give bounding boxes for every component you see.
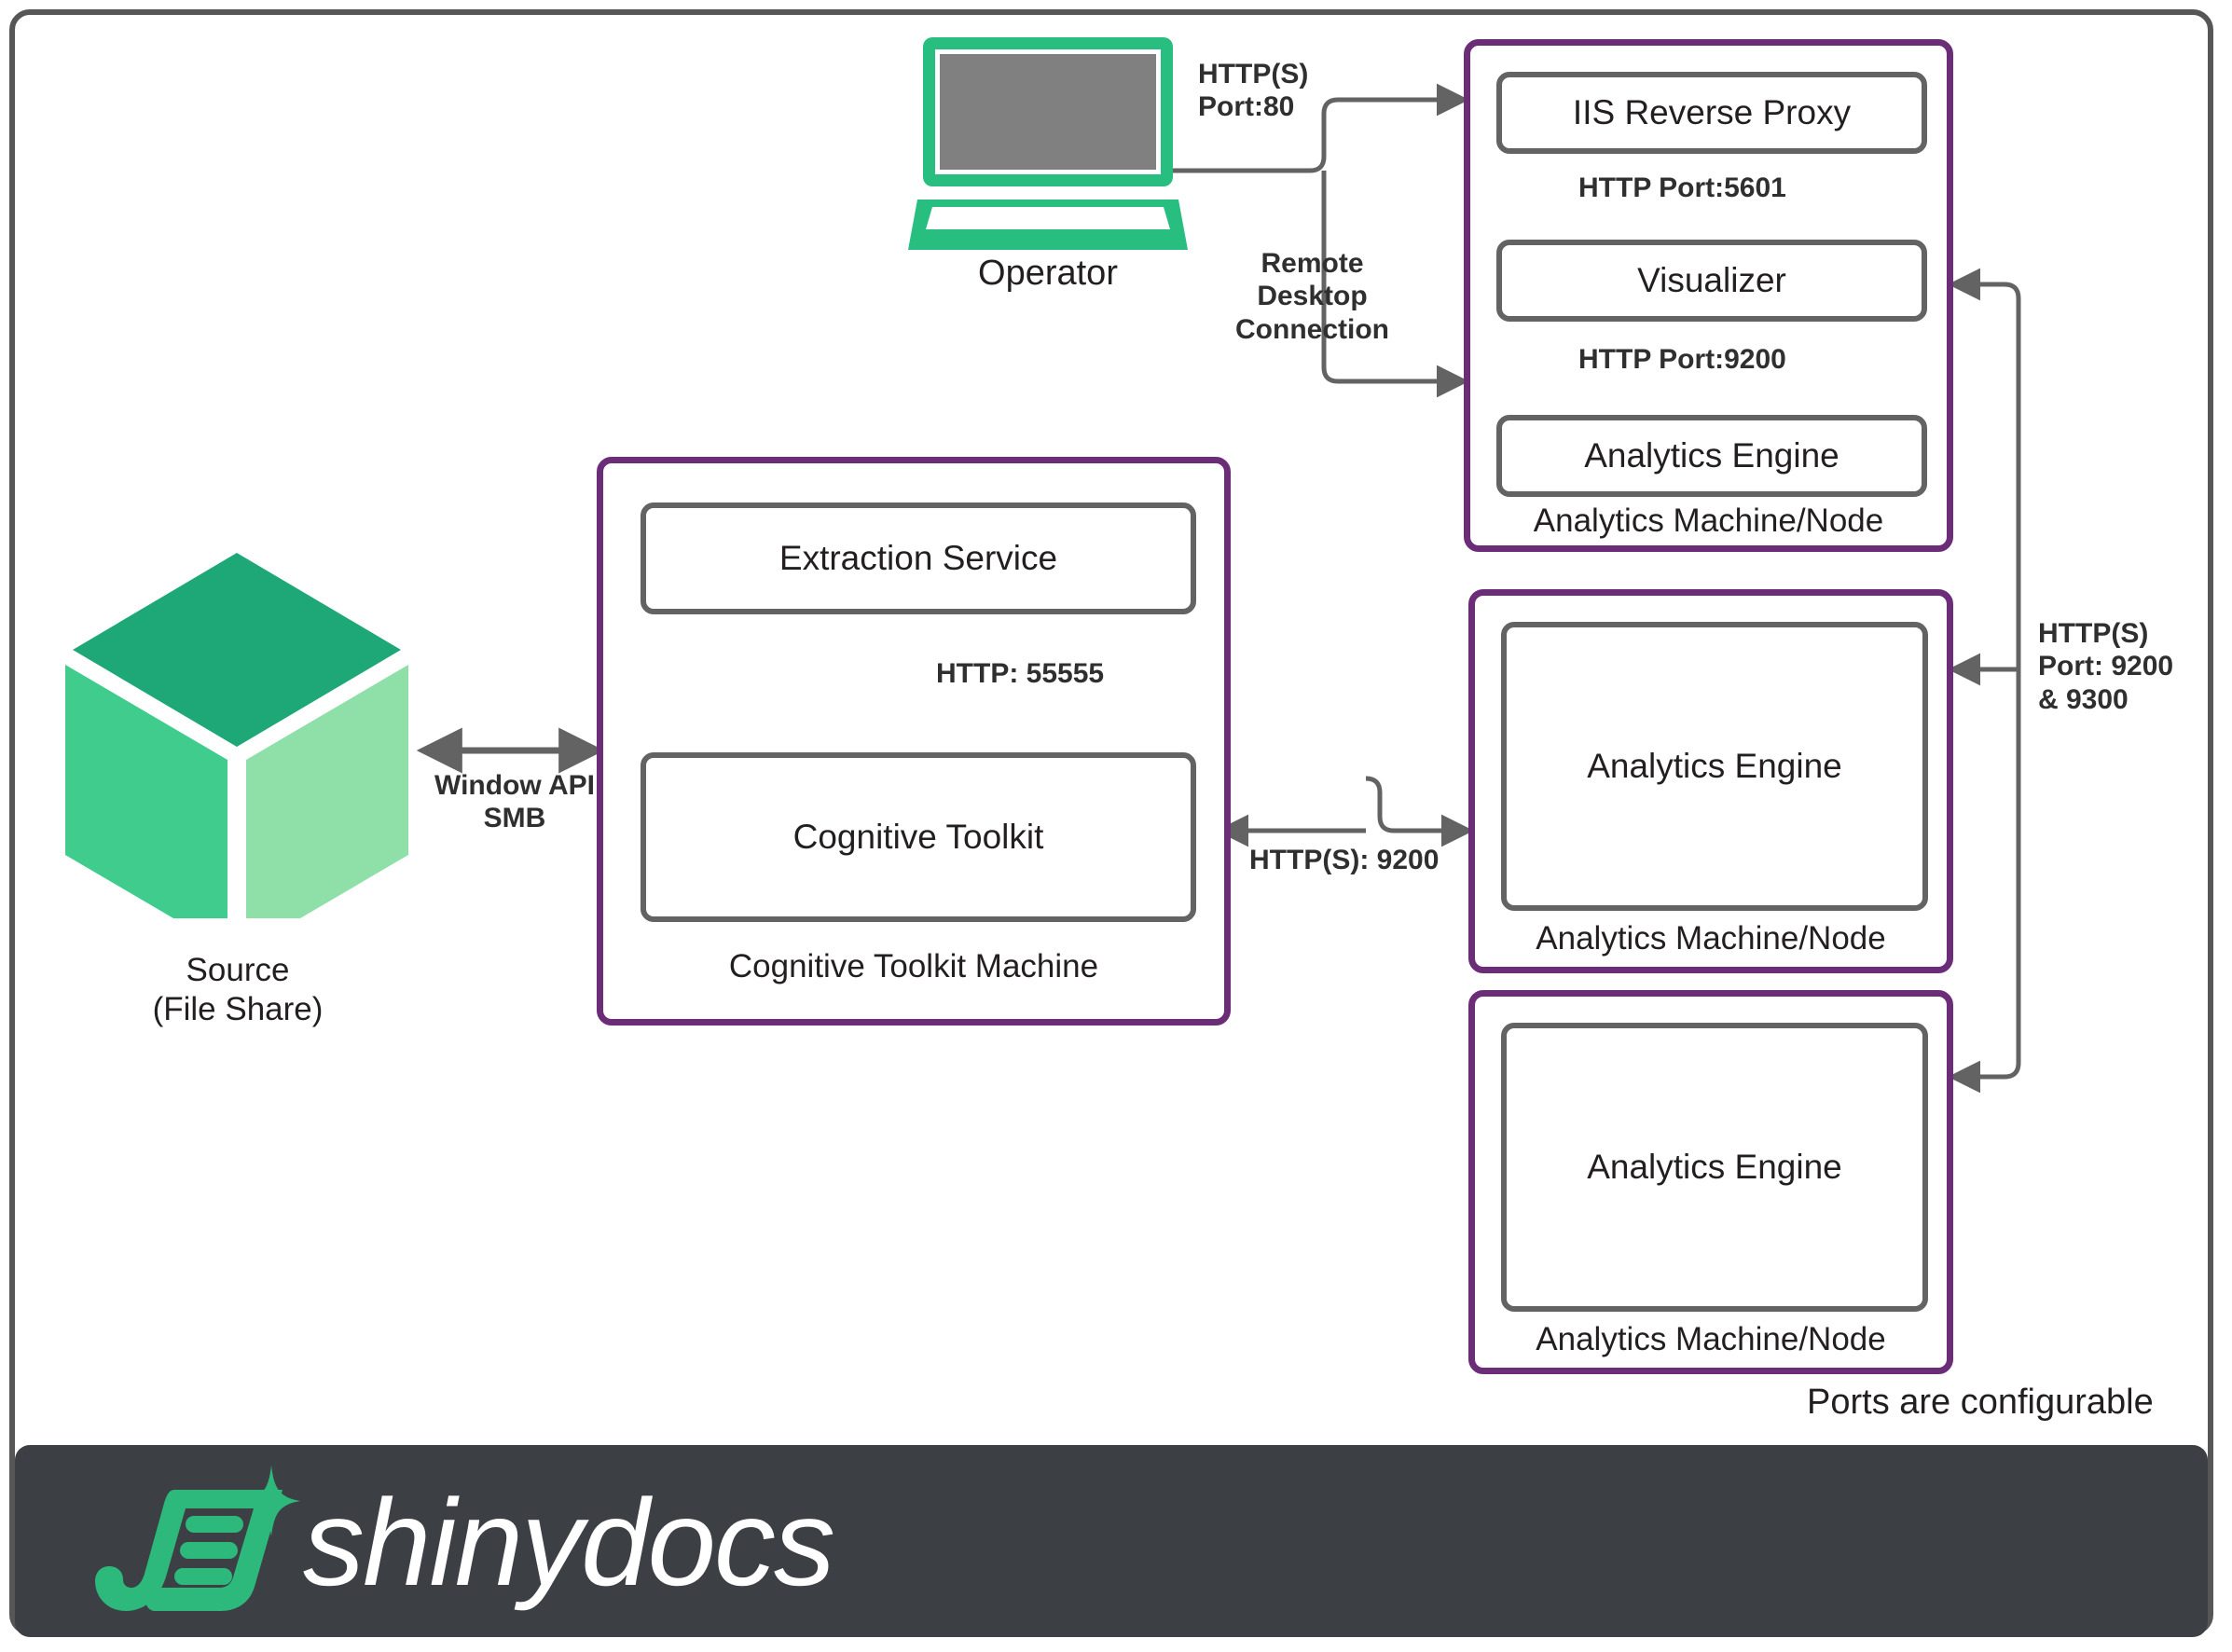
- operator-label: Operator: [861, 254, 1234, 294]
- laptop-screen: [935, 49, 1161, 174]
- wire-bus-to-node1: [1953, 284, 2018, 298]
- service-iis-reverse-proxy[interactable]: IIS Reverse Proxy: [1496, 72, 1927, 154]
- service-analytics-engine[interactable]: Analytics Engine: [1501, 1023, 1928, 1312]
- wire-bus-to-node3: [1953, 1063, 2018, 1077]
- remote-desktop-label: Remote Desktop Connection: [1235, 247, 1389, 346]
- analytics-machine-node-3[interactable]: Analytics Engine Analytics Machine/Node: [1468, 990, 1953, 1374]
- service-label: IIS Reverse Proxy: [1573, 93, 1851, 132]
- source-smb-label: Window API SMB: [421, 769, 608, 835]
- brand-wordmark: shinydocs: [303, 1481, 834, 1604]
- toolkit-internal-label: HTTP: 55555: [936, 657, 1104, 690]
- visualizer-engine-port-label: HTTP Port:9200: [1578, 343, 1786, 376]
- proxy-visualizer-port-label: HTTP Port:5601: [1578, 172, 1786, 204]
- service-label: Analytics Engine: [1584, 436, 1839, 475]
- service-label: Cognitive Toolkit: [793, 818, 1044, 857]
- service-analytics-engine[interactable]: Analytics Engine: [1501, 622, 1928, 911]
- analytics-machine-node-1[interactable]: IIS Reverse Proxy Visualizer Analytics E…: [1464, 39, 1953, 552]
- service-label: Extraction Service: [779, 539, 1057, 578]
- machine-label: Analytics Machine/Node: [1470, 502, 1947, 540]
- cube-icon: [56, 545, 420, 918]
- machine-label: Analytics Machine/Node: [1475, 1321, 1947, 1358]
- machine-label: Analytics Machine/Node: [1475, 920, 1947, 957]
- service-label: Analytics Engine: [1587, 747, 1842, 786]
- service-visualizer[interactable]: Visualizer: [1496, 240, 1927, 322]
- laptop-base: [908, 192, 1188, 257]
- analytics-machine-node-2[interactable]: Analytics Engine Analytics Machine/Node: [1468, 589, 1953, 973]
- laptop-icon: [923, 37, 1173, 224]
- source-label: Source (File Share): [51, 951, 424, 1029]
- service-label: Visualizer: [1637, 261, 1786, 300]
- shinydocs-logo-icon: [89, 1464, 303, 1622]
- operator-http-label: HTTP(S) Port:80: [1198, 58, 1308, 124]
- cognitive-toolkit-machine[interactable]: Extraction Service Cognitive Toolkit Cog…: [597, 457, 1231, 1026]
- cluster-bus-label: HTTP(S) Port: 9200 & 9300: [2038, 617, 2173, 716]
- laptop-lid: [923, 37, 1173, 186]
- service-analytics-engine[interactable]: Analytics Engine: [1496, 415, 1927, 497]
- wire-toolkit-to-analytics-out: [1366, 778, 1468, 831]
- service-extraction-service[interactable]: Extraction Service: [641, 502, 1196, 614]
- service-cognitive-toolkit[interactable]: Cognitive Toolkit: [641, 752, 1196, 922]
- shinydocs-logo: shinydocs: [89, 1459, 834, 1627]
- machine-label: Cognitive Toolkit Machine: [603, 948, 1224, 985]
- toolkit-analytics-label: HTTP(S): 9200: [1249, 844, 1439, 876]
- service-label: Analytics Engine: [1587, 1148, 1842, 1187]
- ports-configurable-note: Ports are configurable: [1807, 1383, 2154, 1423]
- diagram-canvas: Operator HTTP(S) Port:80 Remote Desktop …: [0, 0, 2232, 1652]
